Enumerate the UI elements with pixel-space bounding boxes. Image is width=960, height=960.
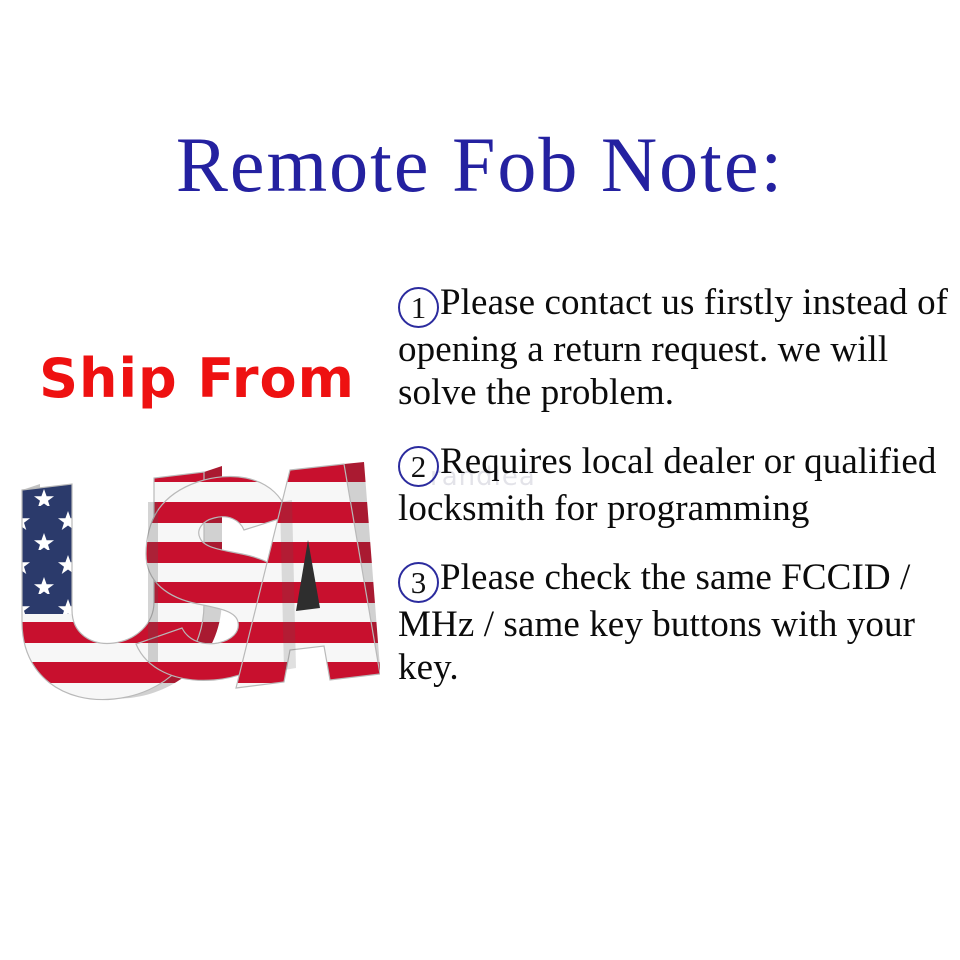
note-number-badge: 1: [398, 287, 439, 328]
note-text: Requires local dealer or qualified locks…: [398, 441, 937, 529]
notes-list: 1Please contact us firstly instead of op…: [398, 281, 960, 689]
note-text: Please contact us firstly instead of ope…: [398, 282, 948, 413]
note-item: 3Please check the same FCCID / MHz / sam…: [398, 556, 960, 689]
note-number-badge: 3: [398, 562, 439, 603]
note-number-badge: 2: [398, 446, 439, 487]
note-item: 2Requires local dealer or qualified lock…: [398, 440, 960, 530]
note-item: 1Please contact us firstly instead of op…: [398, 281, 960, 414]
note-text: Please check the same FCCID / MHz / same…: [398, 557, 915, 688]
page-title: Remote Fob Note:: [0, 122, 960, 208]
remote-fob-note-page: Remote Fob Note: Ship From: [0, 0, 960, 960]
usa-flag-letters-graphic: [8, 462, 380, 720]
ship-from-label: Ship From: [12, 348, 382, 410]
